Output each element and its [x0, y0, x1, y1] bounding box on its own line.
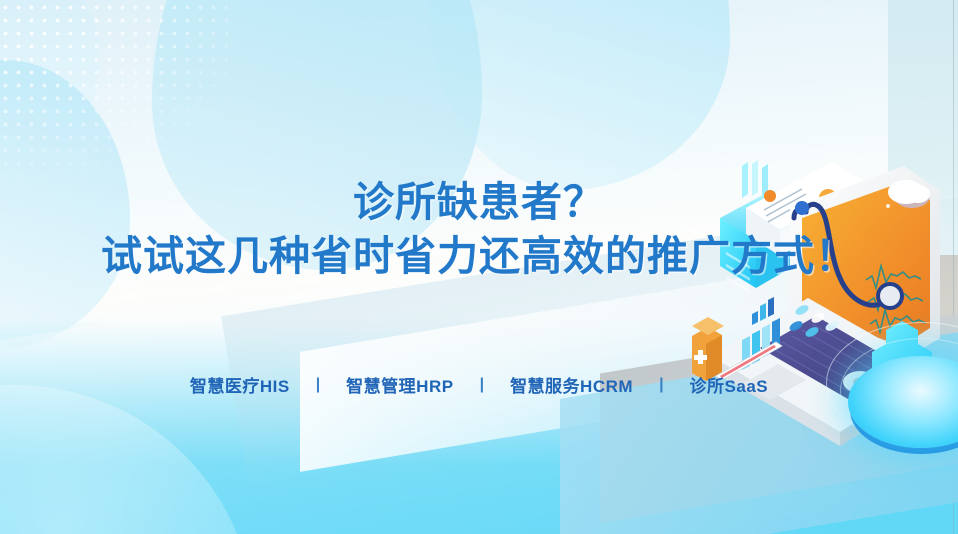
blob-shape-d	[0, 0, 100, 160]
keyword-hrp: 智慧管理HRP	[346, 372, 453, 397]
blob-shape-b	[430, 0, 730, 190]
keyword-separator-2: |	[454, 376, 510, 394]
keyword-his: 智慧医疗HIS	[190, 372, 290, 397]
keyword-hcrm: 智慧服务HCRM	[510, 372, 633, 397]
keyword-separator-1: |	[290, 376, 346, 394]
keyword-row: 智慧医疗HIS | 智慧管理HRP | 智慧服务HCRM | 诊所SaaS	[0, 372, 958, 397]
halftone-dot-pattern	[0, 0, 236, 203]
keyword-saas: 诊所SaaS	[690, 372, 769, 397]
headline-line-2: 试试这几种省时省力还高效的推广方式！	[0, 232, 958, 280]
bottom-left-circle	[0, 385, 255, 534]
headline-block: 诊所缺患者？ 试试这几种省时省力还高效的推广方式！	[0, 178, 958, 281]
keyword-separator-3: |	[633, 376, 689, 394]
headline-line-1: 诊所缺患者？	[0, 178, 958, 226]
stethoscope-chestpiece	[878, 284, 902, 308]
promo-banner: 诊所缺患者？ 试试这几种省时省力还高效的推广方式！ 智慧医疗HIS | 智慧管理…	[0, 0, 958, 534]
